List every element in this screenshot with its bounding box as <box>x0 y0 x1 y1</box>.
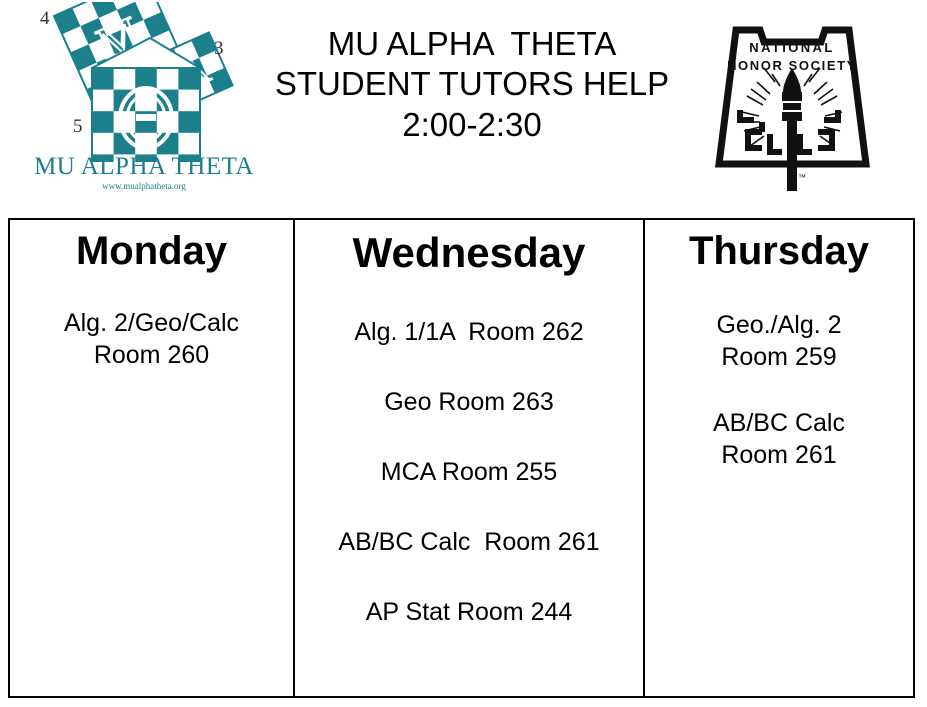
side-label-4: 4 <box>40 8 50 29</box>
schedule-column-wednesday: Wednesday Alg. 1/1A Room 262 Geo Room 26… <box>295 220 645 696</box>
mu-alpha-theta-logo: M A <box>18 2 270 202</box>
day-header-thursday: Thursday <box>645 228 913 275</box>
schedule-entry: Alg. 2/Geo/Calc Room 260 <box>10 307 293 371</box>
schedule-entry: AB/BC Calc Room 261 <box>645 407 913 471</box>
mat-wordmark: MU ALPHA THETA <box>18 154 270 179</box>
pythagorean-squares-icon: M A <box>18 2 270 162</box>
page-title: MU ALPHA THETA STUDENT TUTORS HELP 2:00-… <box>272 24 672 145</box>
title-line-3-time: 2:00-2:30 <box>272 105 672 145</box>
schedule-column-monday: Monday Alg. 2/Geo/Calc Room 260 <box>10 220 295 696</box>
schedule-entry: Geo./Alg. 2 Room 259 <box>645 309 913 373</box>
schedule-entry: AB/BC Calc Room 261 <box>295 526 643 558</box>
title-line-2: STUDENT TUTORS HELP <box>272 64 672 104</box>
schedule-column-thursday: Thursday Geo./Alg. 2 Room 259 AB/BC Calc… <box>645 220 913 696</box>
mat-website-url: www.mualphatheta.org <box>18 182 270 191</box>
day-header-monday: Monday <box>10 228 293 275</box>
poster-header: M A <box>0 0 927 215</box>
title-line-1: MU ALPHA THETA <box>272 24 672 64</box>
schedule-entry: MCA Room 255 <box>295 456 643 488</box>
side-label-5: 5 <box>73 116 83 137</box>
nhs-keystone-icon: NATIONAL HONOR SOCIETY <box>700 12 885 207</box>
schedule-entry: Alg. 1/1A Room 262 <box>295 316 643 348</box>
schedule-entry: AP Stat Room 244 <box>295 596 643 628</box>
national-honor-society-logo: NATIONAL HONOR SOCIETY <box>700 12 885 207</box>
day-header-wednesday: Wednesday <box>295 228 643 278</box>
tutoring-schedule-table: Monday Alg. 2/Geo/Calc Room 260 Wednesda… <box>8 218 915 698</box>
nhs-text-national: NATIONAL <box>749 40 834 55</box>
trademark-symbol: ™ <box>798 173 806 182</box>
schedule-entry: Geo Room 263 <box>295 386 643 418</box>
side-label-3: 3 <box>214 38 224 59</box>
